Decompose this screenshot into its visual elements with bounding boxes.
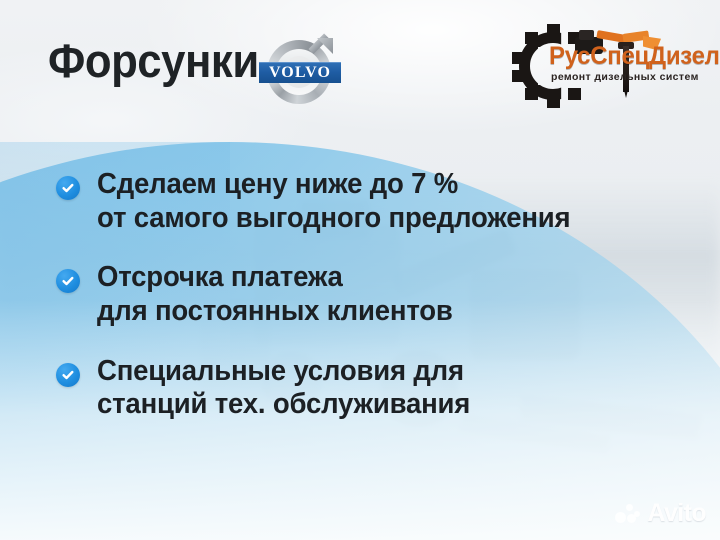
excavator-cab — [579, 30, 594, 40]
check-circle-icon — [56, 176, 80, 200]
russpecdiesel-logo: РусСпецДизель ремонт дизельных систем — [513, 20, 705, 110]
list-item-text: Отсрочка платежа для постоянных клиентов — [97, 261, 453, 328]
avito-watermark: Avito — [615, 501, 706, 526]
benefits-list: Сделаем цену ниже до 7 % от самого выгод… — [0, 168, 720, 448]
gear-tooth — [547, 24, 560, 36]
injector-icon-tip — [624, 90, 628, 98]
list-item: Отсрочка платежа для постоянных клиентов — [0, 261, 720, 328]
page-title: Форсунки — [48, 37, 259, 84]
avito-wordmark: Avito — [647, 501, 706, 526]
company-logo-subtitle: ремонт дизельных систем — [551, 72, 699, 83]
list-item-line1: Специальные условия для — [97, 355, 470, 389]
list-item-line1: Отсрочка платежа — [97, 261, 453, 295]
gear-tooth — [568, 88, 581, 100]
gear-tooth — [512, 70, 525, 82]
check-circle-icon — [56, 269, 80, 293]
gear-tooth — [525, 32, 538, 44]
check-circle-icon — [56, 363, 80, 387]
list-item-line1: Сделаем цену ниже до 7 % — [97, 168, 570, 202]
company-logo-title: РусСпецДизель — [549, 44, 720, 69]
poster-header: Форсунки VOLVO — [0, 0, 720, 130]
gear-tooth — [525, 88, 538, 100]
gear-tooth — [547, 96, 560, 108]
volvo-wordmark-text: VOLVO — [269, 65, 331, 81]
list-item-line2: для постоянных клиентов — [97, 295, 453, 329]
advertisement-poster: Форсунки VOLVO — [0, 0, 720, 540]
list-item-line2: от самого выгодного предложения — [97, 202, 570, 236]
avito-dots-icon — [615, 503, 641, 525]
list-item: Сделаем цену ниже до 7 % от самого выгод… — [0, 168, 720, 235]
list-item: Специальные условия для станций тех. обс… — [0, 355, 720, 422]
list-item-text: Сделаем цену ниже до 7 % от самого выгод… — [97, 168, 570, 235]
gear-tooth — [512, 52, 525, 64]
volvo-wordmark-bar: VOLVO — [259, 62, 341, 83]
list-item-text: Специальные условия для станций тех. обс… — [97, 355, 470, 422]
list-item-line2: станций тех. обслуживания — [97, 388, 470, 422]
volvo-logo: VOLVO — [259, 36, 341, 108]
